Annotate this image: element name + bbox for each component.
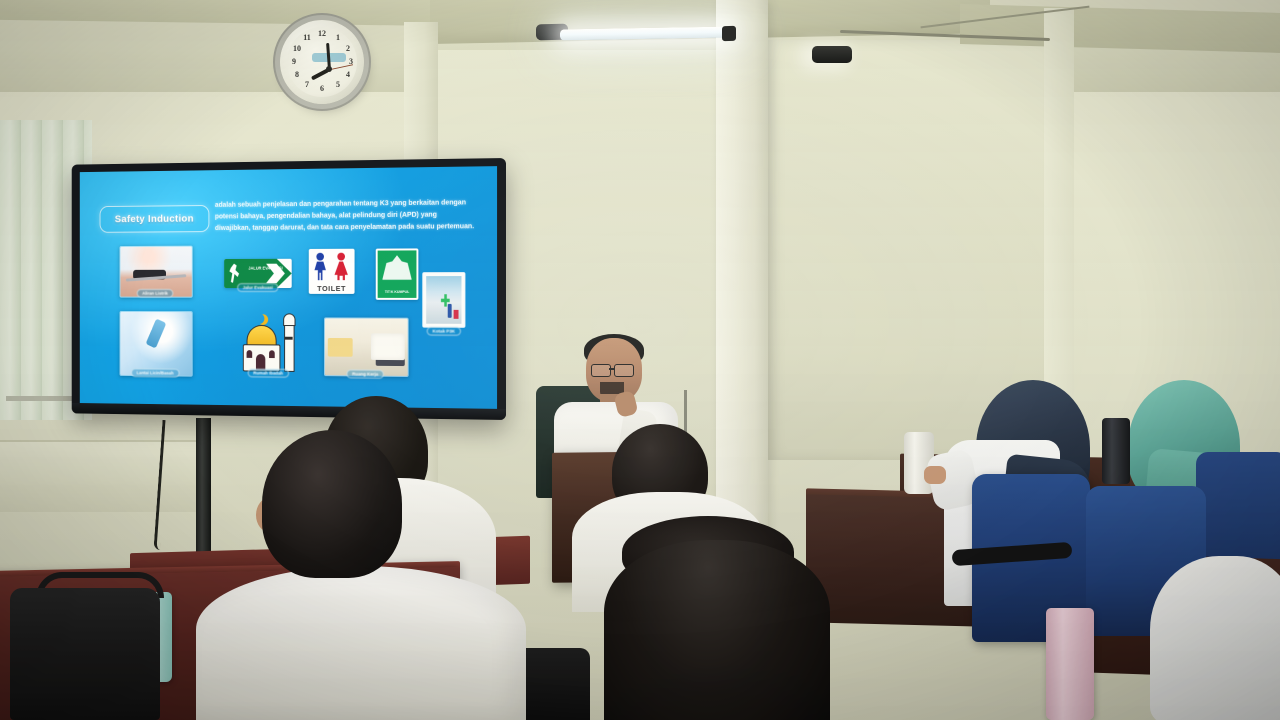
slide-body-text: adalah sebuah penjelasan dan pengarahan … <box>215 196 475 234</box>
photo-wet-floor <box>119 311 192 377</box>
office-chair-blue-3 <box>1196 452 1280 572</box>
slide-tile-label: Lantai Licin/Basah <box>131 368 179 377</box>
structural-column-center <box>716 0 768 560</box>
eyeglasses-left-lens <box>591 364 611 377</box>
light-fixture-second <box>812 46 852 63</box>
slide-tile-label: Ruang Kerja <box>346 369 384 378</box>
clock-face: 12 1 2 3 4 5 6 7 8 9 10 11 <box>287 27 357 97</box>
clock-number-8: 8 <box>291 70 303 79</box>
slide-tile-label: Jalur Evakuasi <box>237 283 278 292</box>
slide-tile-toilet: TOILET <box>309 249 355 294</box>
slide-tile-rumah-ibadah: Rumah Ibadah <box>234 311 304 374</box>
clock-number-4: 4 <box>342 70 354 79</box>
slide-title-box: Safety Induction <box>100 205 210 233</box>
photo-scene: 12 1 2 3 4 5 6 7 8 9 10 11 Safety <box>0 0 1280 720</box>
slide-tile-kotak-p3k: Kotak P3K <box>422 272 465 328</box>
presentation-display[interactable]: Safety Induction adalah sebuah penjelasa… <box>72 158 506 420</box>
slide-tile-lantai-licin: Lantai Licin/Basah <box>119 311 190 375</box>
slide-tile-aliran-listrik: Aliran Listrik <box>119 246 190 296</box>
slide-tile-label: Aliran Listrik <box>137 289 174 298</box>
slide-tile-label: Rumah Ibadah <box>248 369 289 378</box>
eyeglasses-right-lens <box>614 364 634 377</box>
wall-baseboard <box>0 440 210 512</box>
clock-center-pin <box>326 66 332 72</box>
wall-clock: 12 1 2 3 4 5 6 7 8 9 10 11 <box>280 20 364 104</box>
tv-screen: Safety Induction adalah sebuah penjelasa… <box>80 166 497 409</box>
audience-hijab-navy-hand <box>924 466 946 484</box>
photo-workspace <box>324 317 409 377</box>
evacuation-sign-text: JALUR EVAKUASI <box>248 267 282 271</box>
audience-man-front-hair <box>262 430 402 578</box>
slide-title: Safety Induction <box>115 213 194 225</box>
clock-number-10: 10 <box>291 44 303 53</box>
clock-number-11: 11 <box>301 33 313 42</box>
mosque-icon <box>234 311 304 374</box>
clock-number-7: 7 <box>301 80 313 89</box>
clock-number-9: 9 <box>288 57 300 66</box>
slide-tile-label: Kotak P3K <box>427 327 461 336</box>
assembly-sign-text: TITIK KUMPUL <box>378 291 417 295</box>
audience-hijab-white <box>1150 556 1280 720</box>
light-fixture-cap-right <box>722 26 736 41</box>
slide-tile-ruang-kerja: Ruang Kerja <box>324 317 407 375</box>
black-water-bottle <box>1102 418 1130 484</box>
slide-tile-titik-kumpul: TITIK KUMPUL <box>376 248 415 295</box>
clock-number-1: 1 <box>332 33 344 42</box>
eyeglasses-bridge <box>609 368 615 370</box>
audience-man-front-torso <box>196 566 526 720</box>
pink-water-bottle <box>1046 608 1094 720</box>
slide-tile-jalur-evakuasi: JALUR EVAKUASI Jalur Evakuasi <box>224 259 292 288</box>
assembly-point-sign-icon: TITIK KUMPUL <box>376 248 419 299</box>
toilet-sign-icon: TOILET <box>309 249 355 294</box>
audience-woman-long-hair <box>604 540 830 720</box>
tv-stand-pole <box>196 418 211 560</box>
clock-number-2: 2 <box>342 44 354 53</box>
clock-number-6: 6 <box>316 84 328 93</box>
foreground-chair-left <box>10 588 160 720</box>
photo-first-aid-poster <box>422 272 465 328</box>
clock-number-12: 12 <box>316 29 328 38</box>
structural-column-right <box>1044 8 1074 438</box>
toilet-sign-text: TOILET <box>309 284 355 293</box>
clock-number-5: 5 <box>332 80 344 89</box>
